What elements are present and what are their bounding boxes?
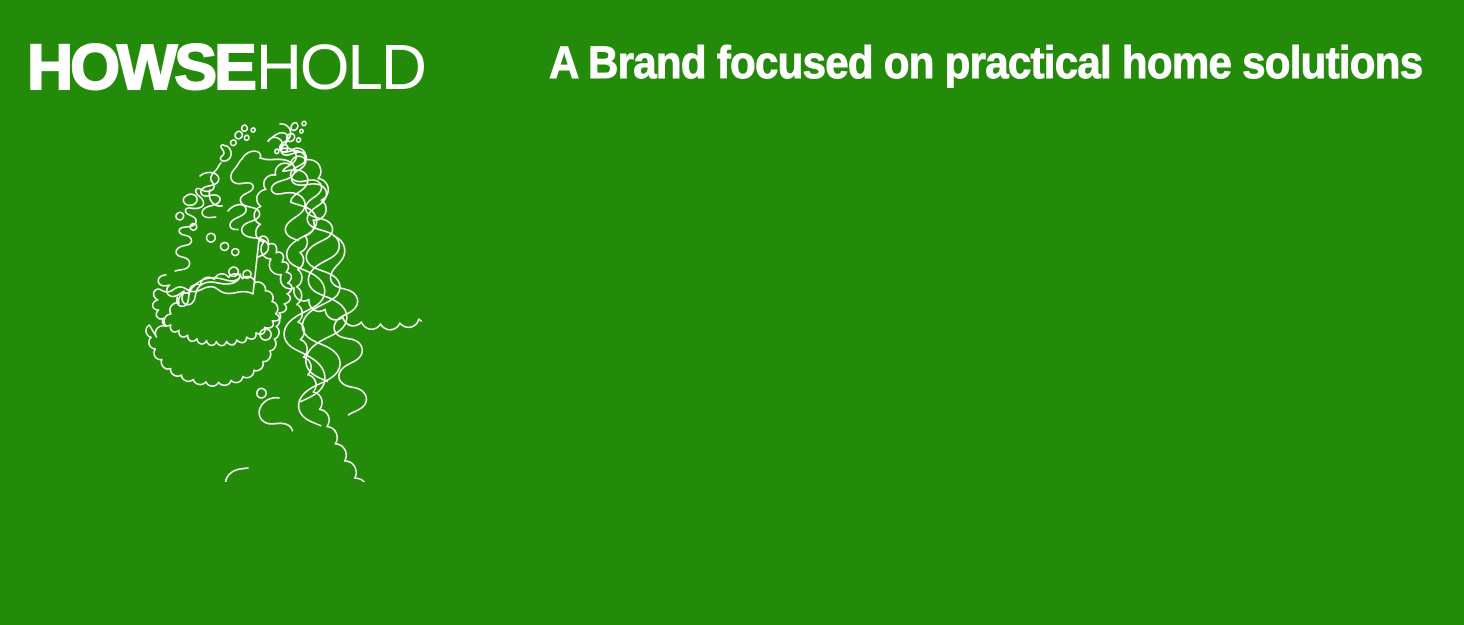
- logo-light-text: HOLD: [256, 35, 425, 99]
- brand-banner: HOWSEHOLD A Brand focused on practical h…: [0, 0, 1464, 625]
- british-isles-map-outline-icon: [82, 116, 422, 482]
- uk-map-block: Proud to be a UK small family run busine…: [82, 116, 422, 482]
- logo-heavy-text: HOWSE: [27, 35, 254, 99]
- brand-logo: HOWSEHOLD: [27, 35, 425, 97]
- brand-tagline: A Brand focused on practical home soluti…: [549, 40, 1422, 85]
